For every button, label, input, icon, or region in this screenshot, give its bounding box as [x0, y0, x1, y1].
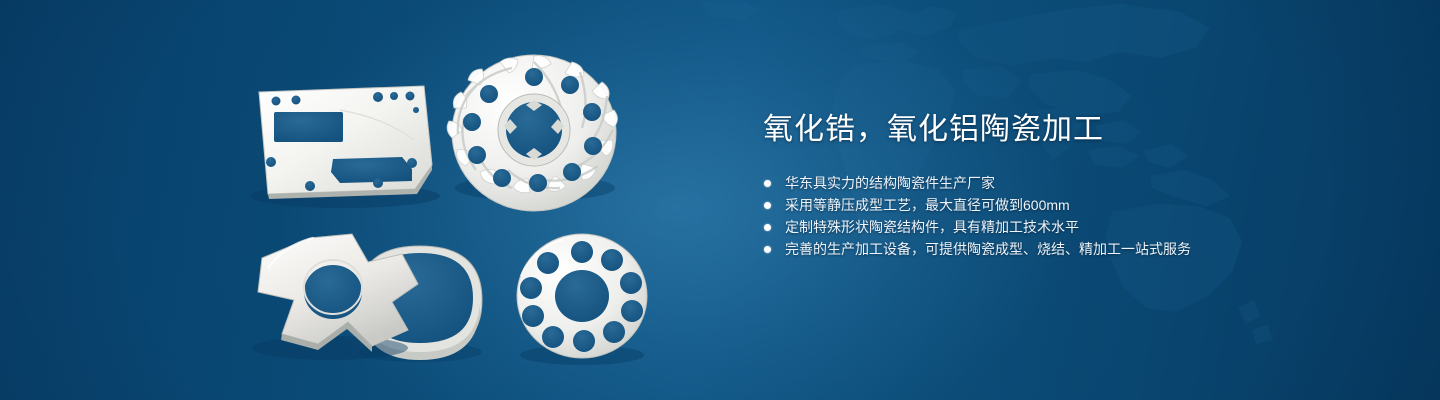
- ceramic-products-image: [0, 0, 700, 400]
- ceramic-perforated-disc: [517, 234, 647, 365]
- list-item-label: 完善的生产加工设备，可提供陶瓷成型、烧结、精加工一站式服务: [785, 241, 1191, 257]
- marketing-copy: 氧化锆，氧化铝陶瓷加工 华东具实力的结构陶瓷件生产厂家 采用等静压成型工艺，最大…: [763, 110, 1323, 260]
- list-item-label: 定制特殊形状陶瓷结构件，具有精加工技术水平: [785, 219, 1079, 235]
- bullet-dot-icon: [764, 246, 771, 253]
- bullet-dot-icon: [764, 180, 771, 187]
- list-item-label: 采用等静压成型工艺，最大直径可做到600mm: [785, 197, 1070, 213]
- page-title: 氧化锆，氧化铝陶瓷加工: [763, 110, 1323, 150]
- list-item: 定制特殊形状陶瓷结构件，具有精加工技术水平: [763, 216, 1323, 238]
- list-item: 采用等静压成型工艺，最大直径可做到600mm: [763, 194, 1323, 216]
- feature-list: 华东具实力的结构陶瓷件生产厂家 采用等静压成型工艺，最大直径可做到600mm 定…: [763, 172, 1323, 260]
- list-item: 华东具实力的结构陶瓷件生产厂家: [763, 172, 1323, 194]
- list-item: 完善的生产加工设备，可提供陶瓷成型、烧结、精加工一站式服务: [763, 238, 1323, 260]
- ceramic-plate-with-cutouts: [250, 86, 440, 208]
- ceramic-processing-banner: 氧化锆，氧化铝陶瓷加工 华东具实力的结构陶瓷件生产厂家 采用等静压成型工艺，最大…: [0, 0, 1440, 400]
- bullet-dot-icon: [764, 202, 771, 209]
- bullet-dot-icon: [764, 224, 771, 231]
- ceramic-impeller-vaned-disc: [447, 55, 617, 211]
- list-item-label: 华东具实力的结构陶瓷件生产厂家: [785, 175, 995, 191]
